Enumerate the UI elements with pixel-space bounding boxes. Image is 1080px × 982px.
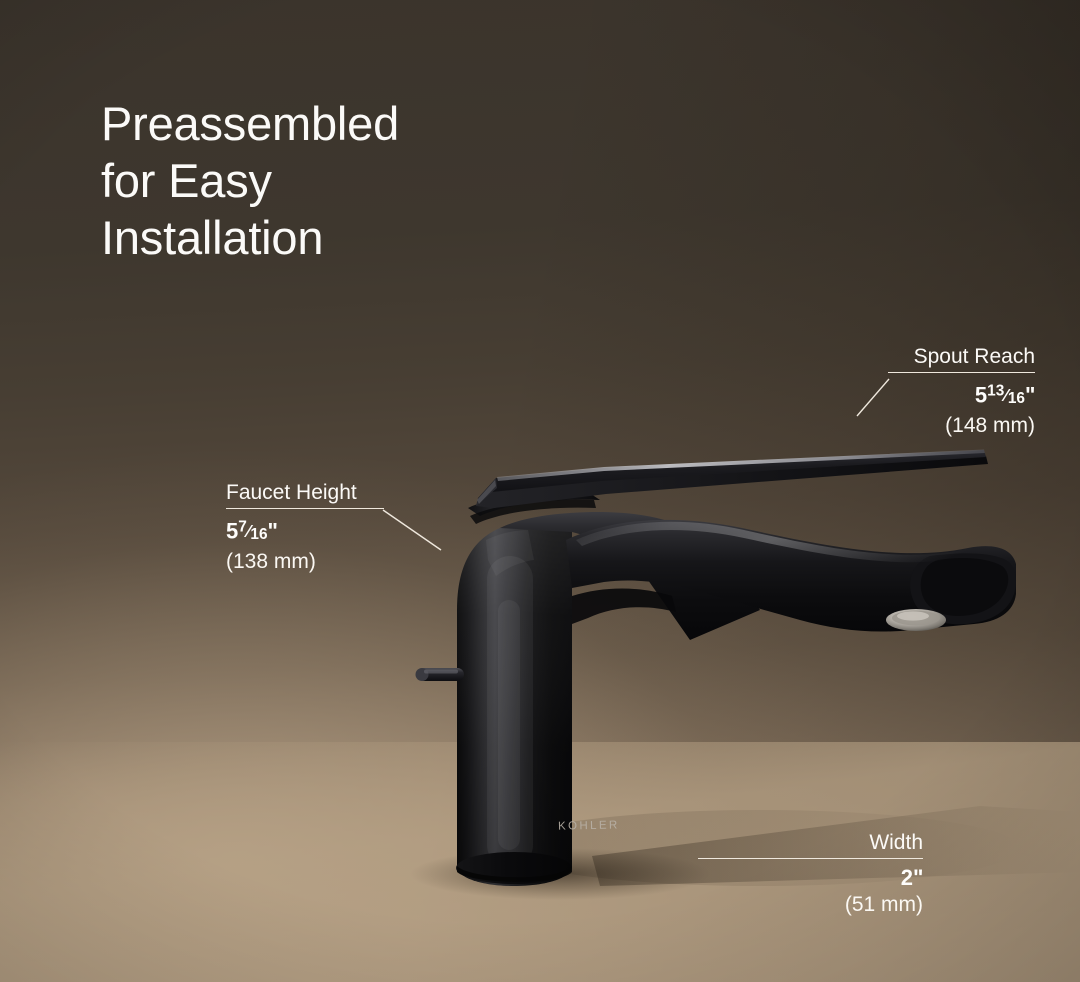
callout-faucet-height: Faucet Height 57⁄16" (138 mm) bbox=[226, 480, 384, 574]
callout-faucet-height-value: 57⁄16" bbox=[226, 514, 384, 548]
value-unit: " bbox=[1025, 382, 1035, 407]
callout-spout-reach-metric: (148 mm) bbox=[818, 413, 1035, 438]
callout-faucet-height-rule bbox=[226, 508, 384, 509]
callout-spout-reach: Spout Reach 513⁄16" (148 mm) bbox=[818, 344, 1035, 438]
callout-spout-reach-value: 513⁄16" bbox=[818, 378, 1035, 412]
value-unit: " bbox=[268, 518, 278, 543]
product-dimension-callout-image: Preassembled for Easy Installation bbox=[0, 0, 1080, 982]
value-whole-number: 5 bbox=[226, 518, 238, 543]
callout-width-rule bbox=[698, 858, 923, 859]
value-whole-number: 2 bbox=[901, 865, 913, 890]
callout-spout-reach-rule bbox=[888, 372, 1035, 373]
callout-faucet-height-metric: (138 mm) bbox=[226, 549, 384, 574]
value-fraction: 13⁄16 bbox=[987, 389, 1025, 406]
callout-width: Width 2" (51 mm) bbox=[698, 830, 923, 917]
brand-mark: KOHLER bbox=[558, 819, 620, 832]
callout-width-value: 2" bbox=[698, 864, 923, 891]
callout-width-metric: (51 mm) bbox=[698, 892, 923, 917]
callout-spout-reach-title: Spout Reach bbox=[818, 344, 1035, 369]
callout-faucet-height-title: Faucet Height bbox=[226, 480, 384, 505]
callout-width-title: Width bbox=[698, 830, 923, 855]
value-fraction: 7⁄16 bbox=[238, 525, 267, 542]
value-unit: " bbox=[913, 865, 923, 890]
value-whole-number: 5 bbox=[975, 382, 987, 407]
